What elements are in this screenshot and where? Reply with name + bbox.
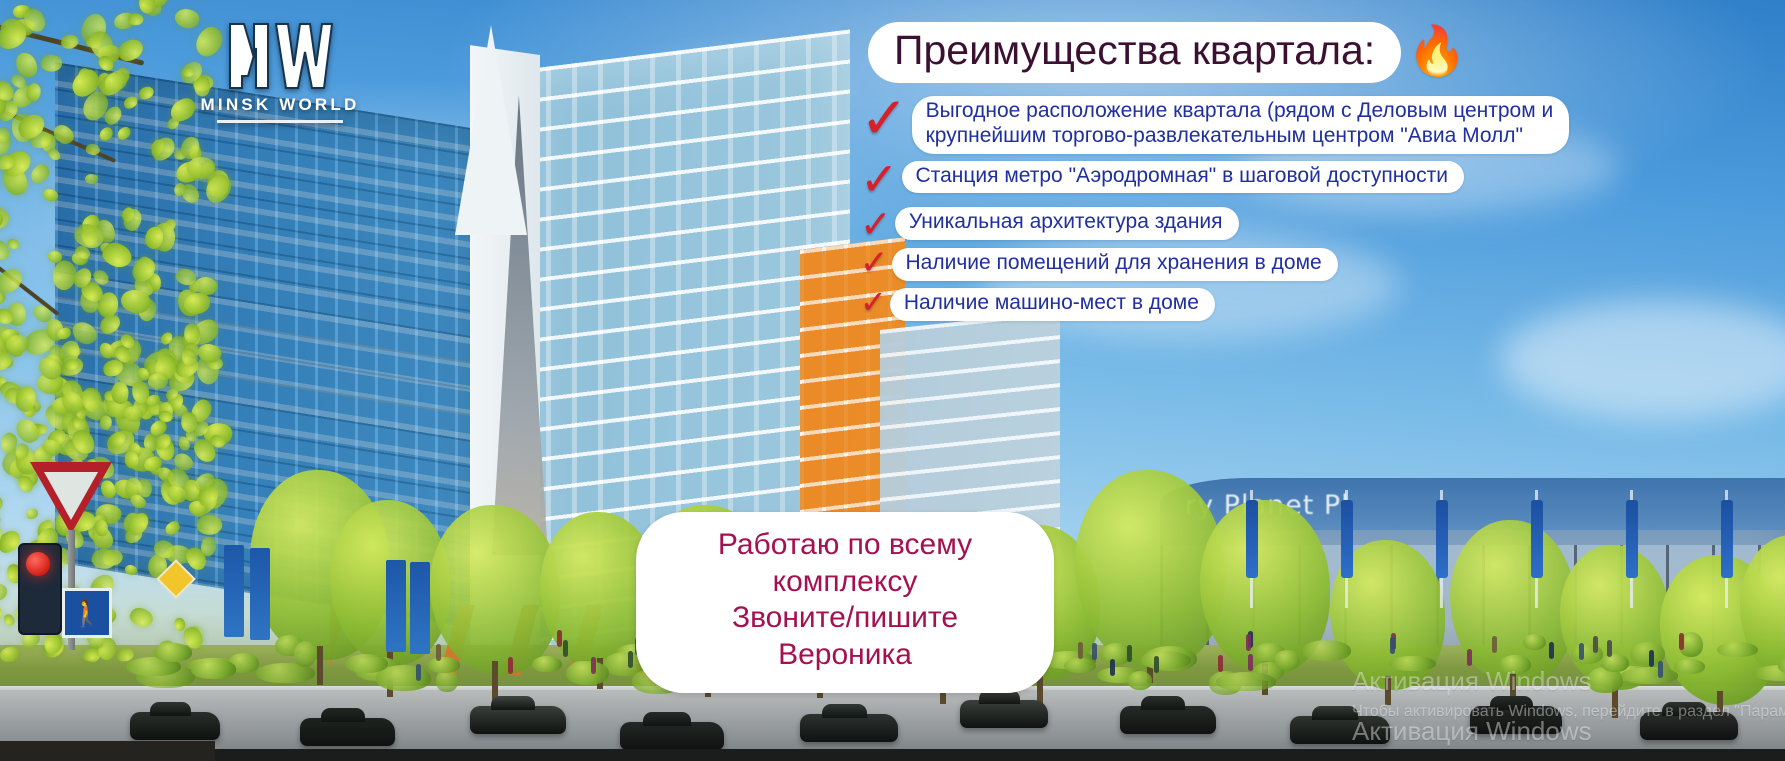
page-title: Преимущества квартала: bbox=[868, 22, 1401, 83]
traffic-light-red-icon bbox=[26, 552, 50, 576]
check-mark-icon: ✓ bbox=[860, 92, 909, 144]
list-item-label: Выгодное расположение квартала (рядом с … bbox=[912, 96, 1570, 154]
list-item-label: Станция метро "Аэродромная" в шаговой до… bbox=[902, 161, 1464, 194]
list-item: ✓ Уникальная архитектура здания bbox=[860, 207, 1569, 241]
brand-name: MINSK WORLD bbox=[200, 95, 360, 115]
list-item-label: Уникальная архитектура здания bbox=[895, 207, 1239, 240]
fire-emoji-icon: 🔥 bbox=[1407, 28, 1467, 76]
list-item: ✓ Наличие машино-мест в доме bbox=[860, 288, 1569, 321]
benefits-list: ✓ Выгодное расположение квартала (рядом … bbox=[860, 96, 1569, 328]
pedestrian-crossing-sign: 🚶 bbox=[62, 588, 112, 638]
triangular-roof-apex bbox=[455, 25, 527, 235]
list-item: ✓ Станция метро "Аэродромная" в шаговой … bbox=[860, 161, 1569, 200]
contact-line-3: Вероника bbox=[654, 637, 1036, 674]
check-mark-icon: ✓ bbox=[860, 248, 889, 279]
yield-triangle-sign bbox=[30, 462, 112, 534]
contact-line-2: Звоните/пишите bbox=[654, 600, 1036, 637]
advertisement-image: ry Planet Pl 🚶 MINSK WORLD Преимущества … bbox=[0, 0, 1785, 761]
contact-line-1: Работаю по всему комплексу bbox=[654, 527, 1036, 600]
bottom-left-bar bbox=[0, 741, 215, 761]
check-mark-icon: ✓ bbox=[860, 159, 899, 200]
mw-monogram-icon bbox=[200, 18, 360, 92]
headline-block: Преимущества квартала: 🔥 bbox=[868, 22, 1467, 83]
check-mark-icon: ✓ bbox=[860, 207, 892, 241]
logo-underline bbox=[217, 120, 343, 123]
bottom-letterbox-bar bbox=[0, 749, 1785, 761]
contact-card: Работаю по всему комплексу Звоните/пишит… bbox=[636, 512, 1054, 693]
check-mark-icon: ✓ bbox=[860, 288, 887, 317]
list-item-label: Наличие помещений для хранения в доме bbox=[892, 248, 1338, 281]
minsk-world-logo: MINSK WORLD bbox=[200, 18, 360, 123]
list-item-label: Наличие машино-мест в доме bbox=[890, 288, 1215, 321]
list-item: ✓ Наличие помещений для хранения в доме bbox=[860, 248, 1569, 281]
list-item: ✓ Выгодное расположение квартала (рядом … bbox=[860, 96, 1569, 154]
